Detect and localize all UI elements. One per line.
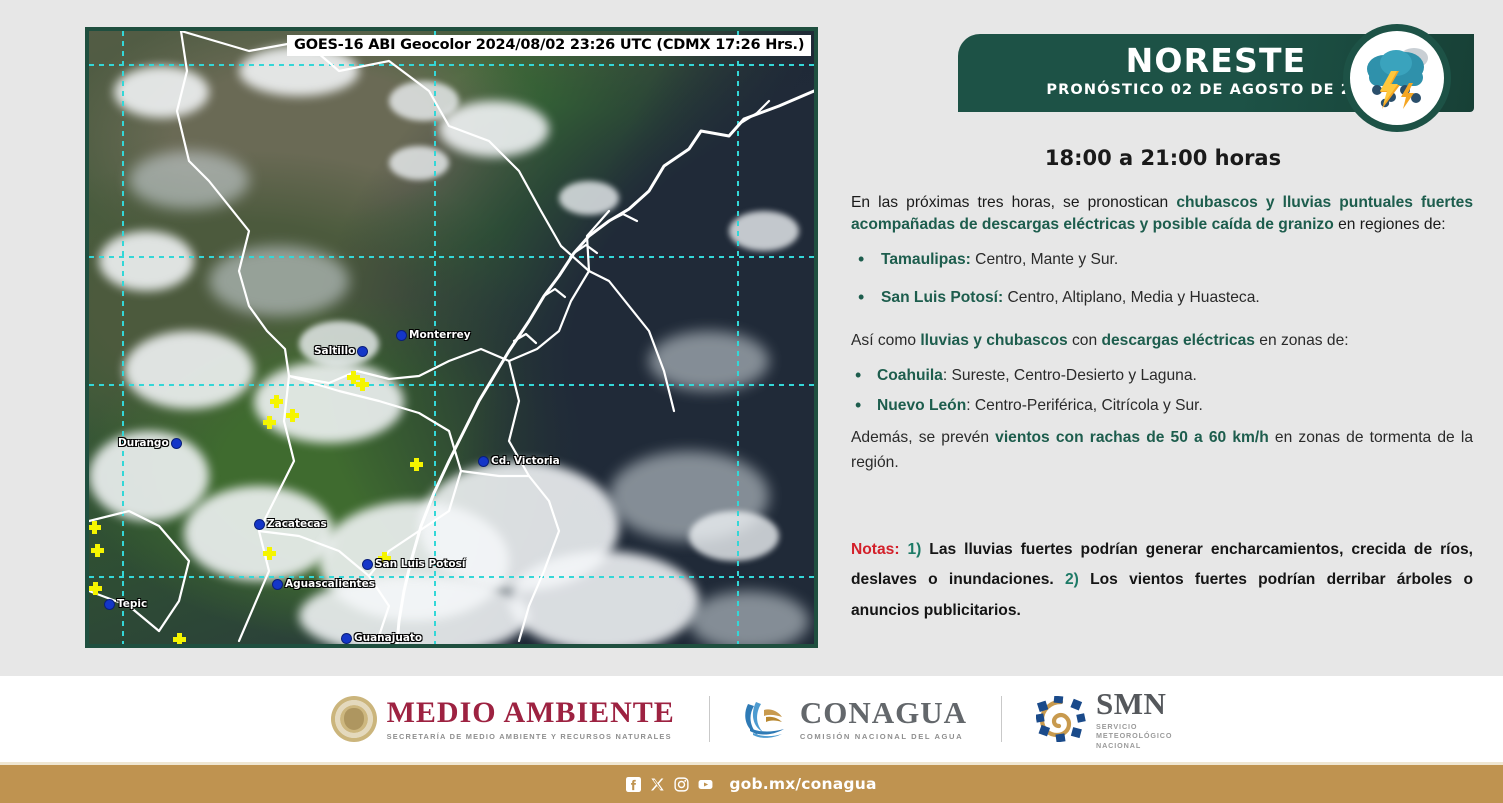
regions-list-1: Tamaulipas: Centro, Mante y Sur. San Lui… bbox=[851, 249, 1473, 309]
facebook-icon[interactable] bbox=[626, 777, 641, 792]
city-marker: Tepic bbox=[105, 598, 147, 610]
city-dot-icon bbox=[397, 331, 406, 340]
lightning-strike-marker bbox=[263, 547, 276, 560]
city-dot-icon bbox=[255, 520, 264, 529]
thunderstorm-rain-icon bbox=[1358, 41, 1436, 115]
conagua-subtitle: COMISIÓN NACIONAL DEL AGUA bbox=[800, 732, 967, 741]
city-dot-icon bbox=[342, 634, 351, 643]
smn-subtitle: SERVICIO METEOROLÓGICO NACIONAL bbox=[1096, 722, 1172, 750]
city-marker: Zacatecas bbox=[255, 518, 327, 530]
forecast-panel: NORESTE PRONÓSTICO 02 DE AGOSTO DE 2024 bbox=[843, 0, 1483, 676]
lightning-strike-marker bbox=[173, 633, 186, 644]
notes-label: Notas: bbox=[851, 541, 900, 558]
notes-block: Notas: 1) Las lluvias fuertes podrían ge… bbox=[851, 535, 1473, 626]
conagua-logo: CONAGUA COMISIÓN NACIONAL DEL AGUA bbox=[744, 697, 967, 741]
city-dot-icon bbox=[172, 439, 181, 448]
wind-paragraph: Además, se prevén vientos con rachas de … bbox=[851, 425, 1473, 476]
list-item: San Luis Potosí: Centro, Altiplano, Medi… bbox=[851, 287, 1473, 309]
city-marker: Monterrey bbox=[397, 329, 471, 341]
list-item: Tamaulipas: Centro, Mante y Sur. bbox=[851, 249, 1473, 271]
state-name: Coahuila bbox=[877, 367, 943, 384]
city-marker: Cd. Victoria bbox=[479, 455, 560, 467]
x-twitter-icon[interactable] bbox=[650, 777, 665, 792]
intro-paragraph: En las próximas tres horas, se pronostic… bbox=[851, 192, 1473, 236]
s2-text-c: con bbox=[1068, 332, 1102, 349]
city-label: Aguascalientes bbox=[285, 578, 375, 590]
section-two: Así como lluvias y chubascos con descarg… bbox=[851, 330, 1473, 476]
state-areas: Centro, Mante y Sur. bbox=[971, 251, 1118, 268]
city-label: Durango bbox=[118, 437, 169, 449]
city-marker: Saltillo bbox=[314, 345, 367, 357]
s2-highlight-2: descargas eléctricas bbox=[1101, 332, 1254, 349]
lightning-strike-marker bbox=[270, 395, 283, 408]
city-marker: Durango bbox=[118, 437, 181, 449]
conagua-text: CONAGUA COMISIÓN NACIONAL DEL AGUA bbox=[800, 697, 967, 741]
city-marker: Aguascalientes bbox=[273, 578, 375, 590]
city-dot-icon bbox=[358, 347, 367, 356]
city-label: Tepic bbox=[117, 598, 147, 610]
lightning-strike-marker bbox=[286, 409, 299, 422]
content-stage: Monterrey Saltillo Durango Cd. Victoria … bbox=[0, 0, 1503, 676]
smn-text: SMN SERVICIO METEOROLÓGICO NACIONAL bbox=[1096, 688, 1172, 750]
city-label: Saltillo bbox=[314, 345, 355, 357]
state-name: Tamaulipas: bbox=[881, 251, 971, 268]
s2-text-d: en zonas de: bbox=[1255, 332, 1349, 349]
city-label: Monterrey bbox=[409, 329, 471, 341]
smn-title: SMN bbox=[1096, 688, 1172, 719]
youtube-icon[interactable] bbox=[698, 777, 713, 792]
lightning-strike-marker bbox=[89, 582, 102, 595]
medio-ambiente-subtitle: SECRETARÍA DE MEDIO AMBIENTE Y RECURSOS … bbox=[387, 732, 675, 741]
intro-text-1: En las próximas tres horas, se pronostic… bbox=[851, 194, 1176, 211]
smn-logo: SMN SERVICIO METEOROLÓGICO NACIONAL bbox=[1036, 688, 1172, 750]
weather-icon-badge bbox=[1343, 24, 1451, 132]
smn-spiral-icon bbox=[1036, 696, 1086, 742]
instagram-icon[interactable] bbox=[674, 777, 689, 792]
state-areas: : Centro-Periférica, Citrícola y Sur. bbox=[966, 397, 1203, 414]
city-dot-icon bbox=[363, 560, 372, 569]
state-name: Nuevo León bbox=[877, 397, 966, 414]
list-item: Coahuila: Sureste, Centro-Desierto y Lag… bbox=[851, 365, 1473, 387]
lightning-strike-marker bbox=[410, 458, 423, 471]
lightning-strike-marker bbox=[356, 378, 369, 391]
city-marker: Guanajuato bbox=[342, 632, 422, 644]
list-item: Nuevo León: Centro-Periférica, Citrícola… bbox=[851, 395, 1473, 417]
state-areas: : Sureste, Centro-Desierto y Laguna. bbox=[943, 367, 1197, 384]
conagua-wave-icon bbox=[744, 698, 790, 740]
mexico-eagle-seal-icon bbox=[331, 696, 377, 742]
medio-ambiente-logo: MEDIO AMBIENTE SECRETARÍA DE MEDIO AMBIE… bbox=[331, 696, 675, 742]
state-name: San Luis Potosí: bbox=[881, 289, 1003, 306]
wind-highlight: vientos con rachas de 50 a 60 km/h bbox=[995, 429, 1269, 446]
regions-list-2: Coahuila: Sureste, Centro-Desierto y Lag… bbox=[851, 365, 1473, 417]
medio-ambiente-text: MEDIO AMBIENTE SECRETARÍA DE MEDIO AMBIE… bbox=[387, 698, 675, 741]
website-url[interactable]: gob.mx/conagua bbox=[729, 775, 876, 793]
satellite-image-panel: Monterrey Saltillo Durango Cd. Victoria … bbox=[85, 27, 818, 648]
note-number-2: 2) bbox=[1065, 571, 1079, 588]
s2-highlight-1: lluvias y chubascos bbox=[920, 332, 1067, 349]
time-range: 18:00 a 21:00 horas bbox=[843, 146, 1483, 170]
conagua-title: CONAGUA bbox=[800, 697, 967, 728]
divider bbox=[1001, 696, 1002, 742]
section-two-intro: Así como lluvias y chubascos con descarg… bbox=[851, 330, 1473, 352]
city-label: Guanajuato bbox=[354, 632, 422, 644]
city-label: Zacatecas bbox=[267, 518, 327, 530]
intro-text-2: en regiones de: bbox=[1334, 216, 1446, 233]
city-dot-icon bbox=[273, 580, 282, 589]
satellite-imagery: Monterrey Saltillo Durango Cd. Victoria … bbox=[89, 31, 814, 644]
lightning-strike-marker bbox=[263, 416, 276, 429]
medio-ambiente-title: MEDIO AMBIENTE bbox=[387, 698, 675, 728]
city-dot-icon bbox=[479, 457, 488, 466]
footer-logos: MEDIO AMBIENTE SECRETARÍA DE MEDIO AMBIE… bbox=[0, 676, 1503, 762]
divider bbox=[709, 696, 710, 742]
state-areas: Centro, Altiplano, Media y Huasteca. bbox=[1003, 289, 1260, 306]
city-dot-icon bbox=[105, 600, 114, 609]
forecast-body: En las próximas tres horas, se pronostic… bbox=[851, 192, 1473, 481]
city-label: Cd. Victoria bbox=[491, 455, 560, 467]
lightning-strike-marker bbox=[89, 521, 101, 534]
social-bar: gob.mx/conagua bbox=[0, 762, 1503, 803]
wind-text-a: Además, se prevén bbox=[851, 429, 995, 446]
note-number-1: 1) bbox=[907, 541, 921, 558]
satellite-title-bar: GOES-16 ABI Geocolor 2024/08/02 23:26 UT… bbox=[287, 35, 811, 56]
city-marker: San Luis Potosí bbox=[363, 558, 465, 570]
city-label: San Luis Potosí bbox=[375, 558, 465, 570]
lightning-strike-marker bbox=[91, 544, 104, 557]
s2-text-a: Así como bbox=[851, 332, 920, 349]
